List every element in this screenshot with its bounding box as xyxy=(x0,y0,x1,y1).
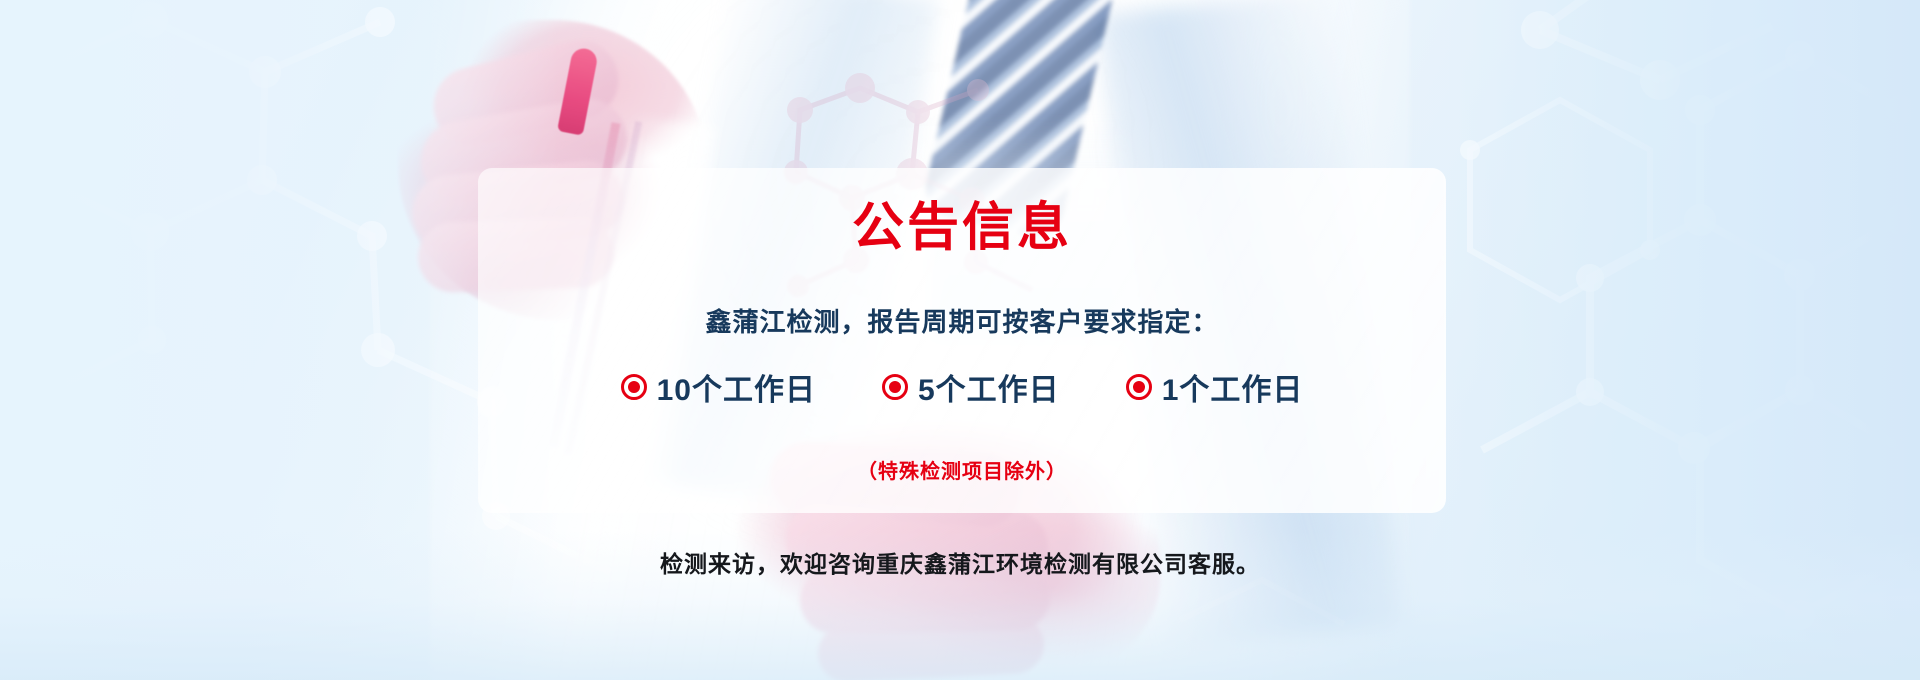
turnaround-option-label: 1个工作日 xyxy=(1162,365,1304,409)
radio-filled-icon xyxy=(882,374,908,400)
page-title: 公告信息 xyxy=(478,168,1446,257)
turnaround-option-10-days[interactable]: 10个工作日 xyxy=(621,365,816,409)
pipette-icon xyxy=(557,46,599,135)
radio-filled-icon xyxy=(621,374,647,400)
turnaround-option-label: 5个工作日 xyxy=(918,365,1060,409)
contact-caption: 检测来访，欢迎咨询重庆鑫蒲江环境检测有限公司客服。 xyxy=(0,545,1920,579)
announcement-subtitle: 鑫蒲江检测，报告周期可按客户要求指定： xyxy=(478,257,1446,339)
turnaround-option-list: 10个工作日 5个工作日 1个工作日 xyxy=(478,339,1446,409)
radio-filled-icon xyxy=(1126,374,1152,400)
finger xyxy=(817,614,1046,680)
exception-note: （特殊检测项目除外） xyxy=(478,409,1446,484)
turnaround-option-5-days[interactable]: 5个工作日 xyxy=(882,365,1060,409)
turnaround-option-1-day[interactable]: 1个工作日 xyxy=(1126,365,1304,409)
announcement-banner: 公告信息 鑫蒲江检测，报告周期可按客户要求指定： 10个工作日 5个工作日 1个… xyxy=(0,0,1920,680)
announcement-card: 公告信息 鑫蒲江检测，报告周期可按客户要求指定： 10个工作日 5个工作日 1个… xyxy=(478,168,1446,513)
turnaround-option-label: 10个工作日 xyxy=(657,365,816,409)
finger xyxy=(425,32,626,153)
